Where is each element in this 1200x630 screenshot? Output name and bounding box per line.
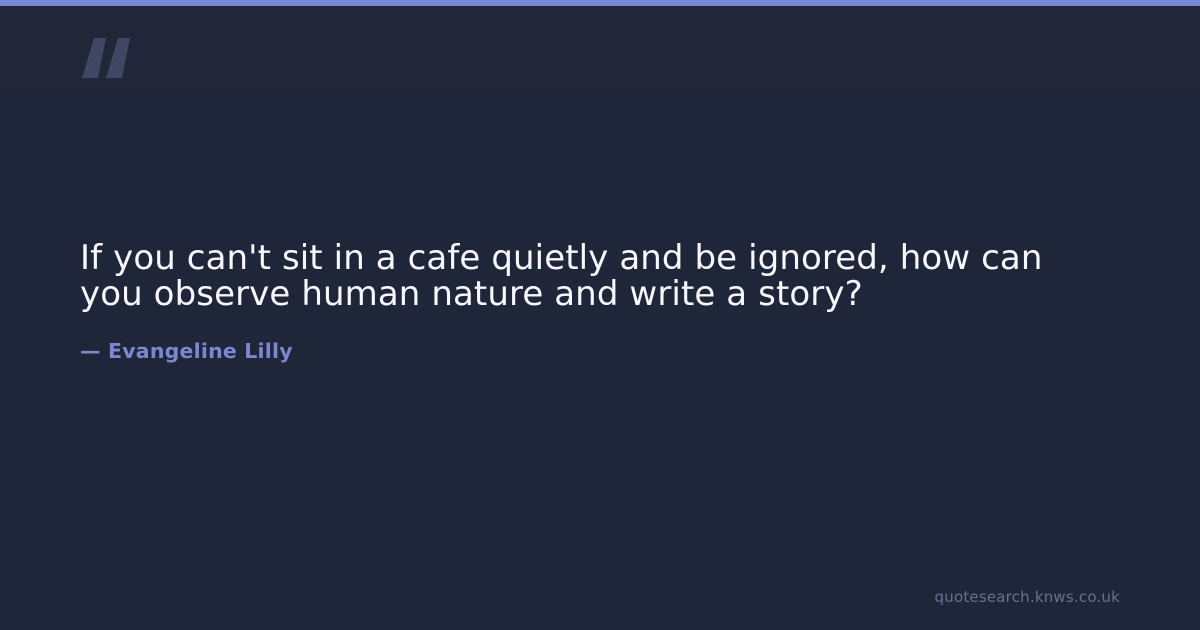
- top-accent-bar: [0, 0, 1200, 6]
- quote-card: If you can't sit in a cafe quietly and b…: [0, 0, 1200, 630]
- quote-attribution: — Evangeline Lilly: [80, 312, 1090, 363]
- site-watermark: quotesearch.knws.co.uk: [935, 588, 1120, 606]
- quote-text: If you can't sit in a cafe quietly and b…: [80, 240, 1090, 312]
- open-quote-icon: [80, 34, 140, 84]
- quote-content: If you can't sit in a cafe quietly and b…: [80, 240, 1090, 363]
